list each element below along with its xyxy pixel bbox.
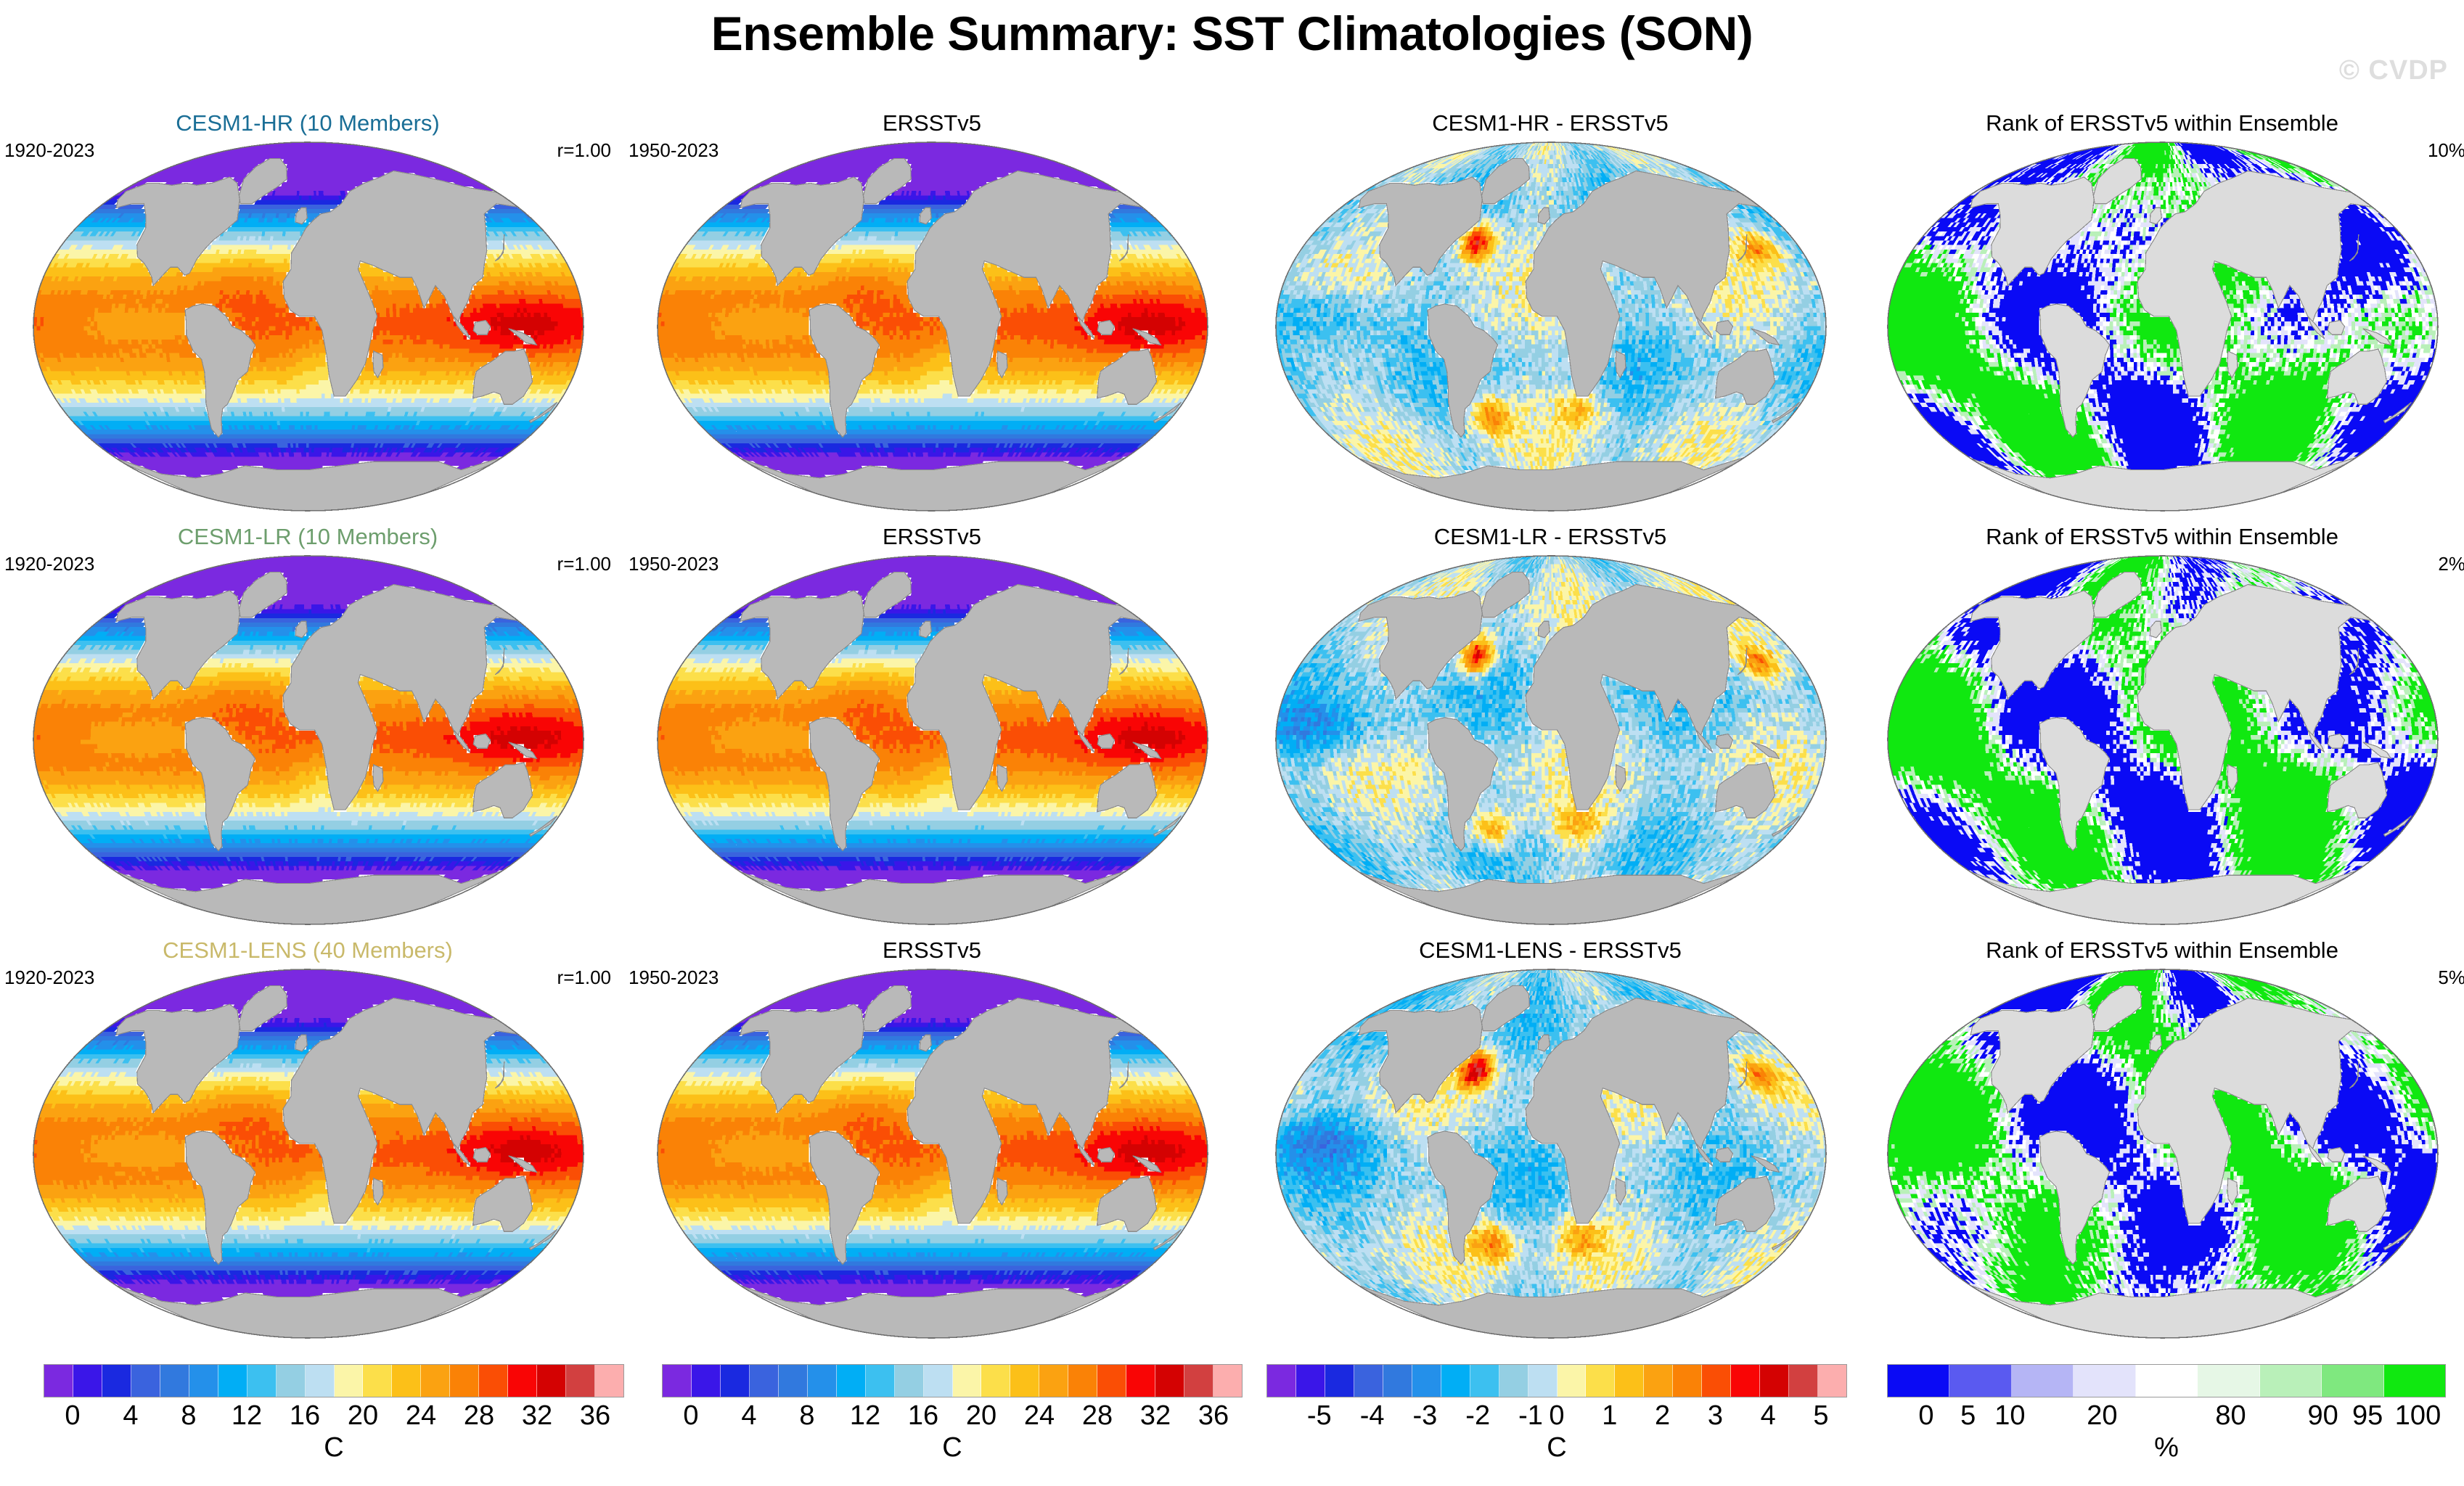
colorbar-swatch xyxy=(837,1365,866,1397)
colorbar-tick-label: -3 xyxy=(1412,1400,1437,1432)
colorbar-ticks: 04812162024283236 xyxy=(662,1397,1243,1434)
panel-observed-climatology: ERSSTv51950-2023 xyxy=(624,522,1240,936)
panel-difference-map: CESM1-LR - ERSSTv5 xyxy=(1243,522,1858,936)
globe-map xyxy=(1272,551,1830,929)
colorbar-tick-label: -2 xyxy=(1465,1400,1490,1432)
colorbar-swatch xyxy=(1383,1365,1412,1397)
globe-map xyxy=(653,138,1212,515)
colorbar-swatches xyxy=(1887,1364,2446,1397)
colorbar-swatch xyxy=(566,1365,595,1397)
colorbar-sst-obs: 04812162024283236C xyxy=(662,1364,1243,1486)
colorbar-tick-label: 12 xyxy=(850,1400,880,1432)
colorbar-swatch xyxy=(895,1365,924,1397)
panel-title: CESM1-HR (10 Members) xyxy=(0,110,615,136)
colorbar-tick-label: 12 xyxy=(232,1400,262,1432)
panel-title: Rank of ERSSTv5 within Ensemble xyxy=(1854,110,2464,136)
colorbar-tick-label: -1 xyxy=(1518,1400,1543,1432)
panel-title: Rank of ERSSTv5 within Ensemble xyxy=(1854,937,2464,964)
panel-observed-climatology: ERSSTv51950-2023 xyxy=(624,936,1240,1350)
colorbar-swatch xyxy=(1702,1365,1731,1397)
colorbar-swatch xyxy=(2012,1365,2074,1397)
colorbar-swatch xyxy=(392,1365,421,1397)
colorbar-swatch xyxy=(1888,1365,1949,1397)
panel-rank-map: Rank of ERSSTv5 within Ensemble10% xyxy=(1854,109,2464,522)
colorbar-swatch xyxy=(1325,1365,1354,1397)
colorbar-tick-label: 8 xyxy=(181,1400,196,1432)
colorbar-swatch xyxy=(2260,1365,2322,1397)
colorbar-swatch xyxy=(102,1365,131,1397)
colorbar-swatch xyxy=(1558,1365,1587,1397)
colorbar-swatches xyxy=(662,1364,1243,1397)
panel-difference-map: CESM1-LENS - ERSSTv5 xyxy=(1243,936,1858,1350)
colorbar-tick-label: 36 xyxy=(580,1400,610,1432)
panel-grid: CESM1-HR (10 Members)1920-2023r=1.00ERSS… xyxy=(0,109,2464,1350)
globe-map xyxy=(1883,965,2442,1342)
colorbar-swatch xyxy=(537,1365,566,1397)
panel-rank-map: Rank of ERSSTv5 within Ensemble2% xyxy=(1854,522,2464,936)
colorbar-rank: 051020809095100% xyxy=(1887,1364,2446,1486)
page-title: Ensemble Summary: SST Climatologies (SON… xyxy=(0,6,2464,61)
colorbar-swatch xyxy=(1949,1365,2011,1397)
colorbar-tick-label: 32 xyxy=(522,1400,552,1432)
colorbar-tick-label: 0 xyxy=(683,1400,698,1432)
colorbar-swatch xyxy=(721,1365,750,1397)
colorbar-swatch xyxy=(508,1365,537,1397)
colorbar-tick-label: 4 xyxy=(741,1400,756,1432)
colorbar-swatch xyxy=(1615,1365,1644,1397)
panel-title: CESM1-LR (10 Members) xyxy=(0,524,615,550)
panel-row: CESM1-LR (10 Members)1920-2023r=1.00ERSS… xyxy=(0,522,2464,936)
panel-title: ERSSTv5 xyxy=(624,524,1240,550)
colorbar-swatch xyxy=(1155,1365,1184,1397)
colorbar-tick-label: 5 xyxy=(1960,1400,1976,1432)
globe-map xyxy=(29,138,588,515)
colorbar-swatch xyxy=(160,1365,189,1397)
colorbar-tick-label: 0 xyxy=(65,1400,80,1432)
colorbar-tick-label: 20 xyxy=(966,1400,996,1432)
colorbar-difference: -5-4-3-2-1012345C xyxy=(1266,1364,1847,1486)
colorbar-swatch xyxy=(1673,1365,1702,1397)
globe-map xyxy=(1272,965,1830,1342)
panel-title: CESM1-LENS - ERSSTv5 xyxy=(1243,937,1858,964)
colorbar-swatch xyxy=(1499,1365,1528,1397)
colorbar-swatch xyxy=(2198,1365,2259,1397)
colorbar-tick-label: 4 xyxy=(1761,1400,1776,1432)
colorbar-tick-label: 28 xyxy=(464,1400,494,1432)
colorbar-tick-label: 0 xyxy=(1918,1400,1933,1432)
colorbar-swatch xyxy=(1010,1365,1039,1397)
colorbar-tick-label: 20 xyxy=(348,1400,378,1432)
colorbar-swatch xyxy=(779,1365,808,1397)
panel-title: CESM1-LENS (40 Members) xyxy=(0,937,615,964)
colorbar-tick-label: 10 xyxy=(1994,1400,2025,1432)
colorbar-tick-label: 24 xyxy=(1024,1400,1055,1432)
panel-title: ERSSTv5 xyxy=(624,937,1240,964)
colorbar-swatch xyxy=(1731,1365,1760,1397)
panel-title: CESM1-HR - ERSSTv5 xyxy=(1243,110,1858,136)
colorbar-tick-label: 90 xyxy=(2307,1400,2338,1432)
colorbar-swatch xyxy=(44,1365,73,1397)
colorbar-unit-label: C xyxy=(44,1432,624,1464)
colorbar-swatches xyxy=(44,1364,624,1397)
panel-difference-map: CESM1-HR - ERSSTv5 xyxy=(1243,109,1858,522)
colorbar-swatch xyxy=(277,1365,306,1397)
panel-row: CESM1-HR (10 Members)1920-2023r=1.00ERSS… xyxy=(0,109,2464,522)
colorbar-tick-label: 20 xyxy=(2087,1400,2117,1432)
panel-model-climatology: CESM1-HR (10 Members)1920-2023r=1.00 xyxy=(0,109,615,522)
colorbar-tick-label: 16 xyxy=(908,1400,938,1432)
globe-map xyxy=(29,965,588,1342)
colorbar-tick-label: 1 xyxy=(1602,1400,1617,1432)
colorbar-swatch xyxy=(335,1365,364,1397)
colorbar-unit-label: % xyxy=(1887,1432,2446,1464)
colorbar-swatch xyxy=(2136,1365,2198,1397)
colorbar-swatch xyxy=(1760,1365,1789,1397)
globe-map xyxy=(1883,138,2442,515)
panel-observed-climatology: ERSSTv51950-2023 xyxy=(624,109,1240,522)
panel-model-climatology: CESM1-LENS (40 Members)1920-2023r=1.00 xyxy=(0,936,615,1350)
colorbar-swatch xyxy=(2384,1365,2445,1397)
colorbar-tick-label: 3 xyxy=(1708,1400,1723,1432)
colorbar-swatch xyxy=(247,1365,277,1397)
colorbar-swatch xyxy=(1412,1365,1441,1397)
colorbar-swatch xyxy=(1267,1365,1296,1397)
globe-map xyxy=(1272,138,1830,515)
colorbar-swatch xyxy=(306,1365,335,1397)
globe-map xyxy=(653,551,1212,929)
colorbar-swatch xyxy=(663,1365,692,1397)
colorbar-swatch xyxy=(1213,1365,1242,1397)
colorbar-tick-label: 32 xyxy=(1140,1400,1171,1432)
colorbar-swatch xyxy=(218,1365,247,1397)
colorbar-swatch xyxy=(1818,1365,1846,1397)
globe-map xyxy=(29,551,588,929)
panel-title: ERSSTv5 xyxy=(624,110,1240,136)
panel-title: CESM1-LR - ERSSTv5 xyxy=(1243,524,1858,550)
colorbar-swatch xyxy=(866,1365,895,1397)
colorbar-tick-label: 28 xyxy=(1082,1400,1113,1432)
colorbar-swatch xyxy=(692,1365,721,1397)
colorbar-swatch xyxy=(1068,1365,1097,1397)
colorbar-swatch xyxy=(1470,1365,1499,1397)
panel-title: Rank of ERSSTv5 within Ensemble xyxy=(1854,524,2464,550)
panel-model-climatology: CESM1-LR (10 Members)1920-2023r=1.00 xyxy=(0,522,615,936)
colorbar-swatch xyxy=(981,1365,1010,1397)
colorbar-tick-label: 4 xyxy=(123,1400,138,1432)
colorbar-tick-label: 80 xyxy=(2215,1400,2246,1432)
colorbar-swatch xyxy=(1184,1365,1213,1397)
colorbar-tick-label: 24 xyxy=(406,1400,436,1432)
colorbar-swatch xyxy=(479,1365,508,1397)
colorbar-sst-row: 04812162024283236C xyxy=(44,1364,624,1486)
colorbar-unit-label: C xyxy=(1266,1432,1847,1464)
colorbar-swatch xyxy=(1039,1365,1068,1397)
colorbar-swatch xyxy=(2074,1365,2135,1397)
cvdp-watermark: © CVDP xyxy=(2339,55,2448,86)
colorbar-tick-label: -5 xyxy=(1307,1400,1332,1432)
colorbar-unit-label: C xyxy=(662,1432,1243,1464)
colorbar-ticks: 04812162024283236 xyxy=(44,1397,624,1434)
panel-rank-map: Rank of ERSSTv5 within Ensemble5% xyxy=(1854,936,2464,1350)
colorbar-swatch xyxy=(73,1365,102,1397)
colorbar-tick-label: -4 xyxy=(1360,1400,1385,1432)
colorbar-swatch xyxy=(131,1365,160,1397)
colorbar-swatch xyxy=(421,1365,450,1397)
colorbar-tick-label: 8 xyxy=(799,1400,814,1432)
colorbar-tick-label: 2 xyxy=(1655,1400,1670,1432)
colorbar-swatch xyxy=(953,1365,982,1397)
colorbar-swatch xyxy=(450,1365,479,1397)
globe-map xyxy=(1883,551,2442,929)
colorbar-swatch xyxy=(1528,1365,1558,1397)
colorbar-swatch xyxy=(1441,1365,1470,1397)
colorbar-swatch xyxy=(1126,1365,1155,1397)
panel-row: CESM1-LENS (40 Members)1920-2023r=1.00ER… xyxy=(0,936,2464,1350)
colorbar-swatch xyxy=(1097,1365,1126,1397)
colorbar-swatch xyxy=(1586,1365,1615,1397)
globe-map xyxy=(653,965,1212,1342)
colorbar-strip: 04812162024283236C04812162024283236C-5-4… xyxy=(0,1364,2464,1486)
colorbar-tick-label: 5 xyxy=(1813,1400,1828,1432)
colorbar-tick-label: 36 xyxy=(1198,1400,1229,1432)
colorbar-swatch xyxy=(1644,1365,1673,1397)
colorbar-swatch xyxy=(595,1365,623,1397)
colorbar-swatch xyxy=(363,1365,392,1397)
colorbar-ticks: 051020809095100 xyxy=(1887,1397,2446,1434)
colorbar-tick-label: 100 xyxy=(2395,1400,2441,1432)
colorbar-swatch xyxy=(2322,1365,2383,1397)
colorbar-swatch xyxy=(189,1365,218,1397)
colorbar-tick-label: 95 xyxy=(2352,1400,2383,1432)
colorbar-swatch xyxy=(1296,1365,1325,1397)
colorbar-tick-label: 0 xyxy=(1549,1400,1564,1432)
colorbar-tick-label: 16 xyxy=(290,1400,320,1432)
colorbar-swatch xyxy=(750,1365,779,1397)
colorbar-ticks: -5-4-3-2-1012345 xyxy=(1266,1397,1847,1434)
colorbar-swatch xyxy=(1354,1365,1383,1397)
colorbar-swatch xyxy=(808,1365,837,1397)
colorbar-swatches xyxy=(1266,1364,1847,1397)
colorbar-swatch xyxy=(924,1365,953,1397)
colorbar-swatch xyxy=(1789,1365,1818,1397)
